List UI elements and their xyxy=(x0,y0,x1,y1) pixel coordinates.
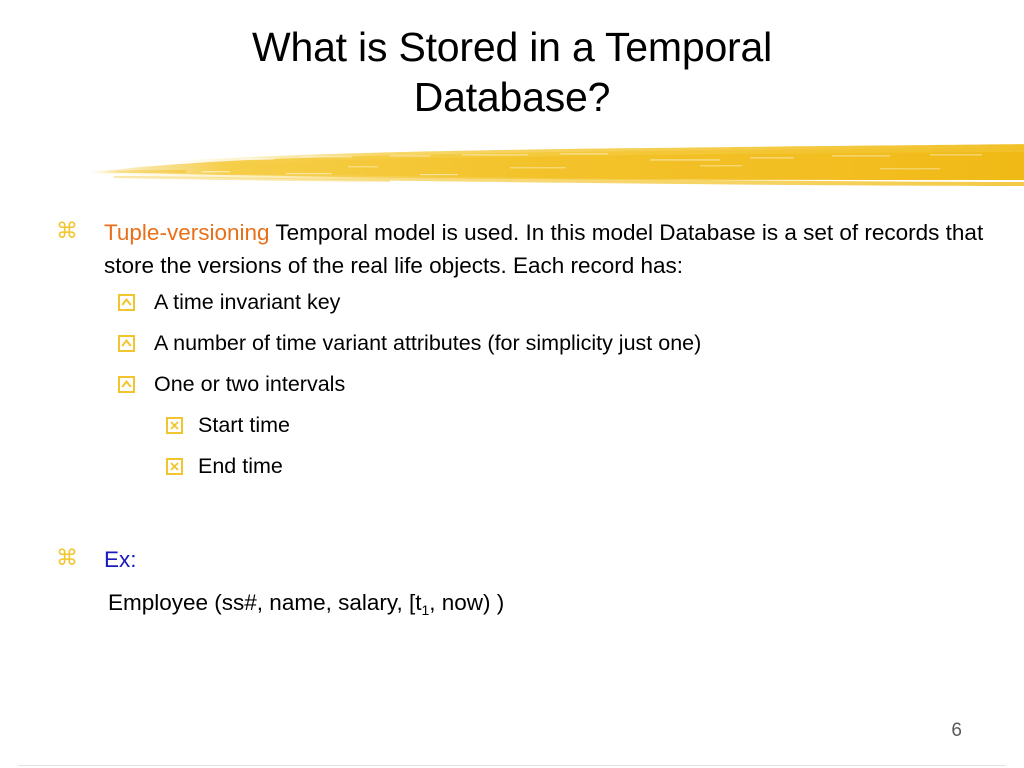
bullet-label: End time xyxy=(198,454,283,478)
title-line-2: Database? xyxy=(112,72,912,122)
bullet-tuple-versioning: ⌘ Tuple-versioning Temporal model is use… xyxy=(52,216,992,282)
chevron-square-bullet-icon xyxy=(118,376,135,393)
bullet-example: ⌘ Ex: xyxy=(52,543,992,576)
bullet-label: One or two intervals xyxy=(154,372,345,396)
command-bullet-icon: ⌘ xyxy=(56,219,78,245)
page-title: What is Stored in a Temporal Database? xyxy=(112,22,912,122)
bullet-text: Tuple-versioning Temporal model is used.… xyxy=(104,220,983,278)
bullet-start-time: Start time xyxy=(162,405,992,446)
example-prefix: Employee (ss#, name, salary, [t xyxy=(108,590,421,615)
bullet-label: A time invariant key xyxy=(154,290,340,314)
bullet-label: Start time xyxy=(198,413,290,437)
bullet-time-variant-attributes: A number of time variant attributes (for… xyxy=(114,323,992,364)
bullet-end-time: End time xyxy=(162,446,992,487)
chevron-square-bullet-icon xyxy=(118,294,135,311)
page-number: 6 xyxy=(951,720,962,742)
bullet-one-or-two-intervals: One or two intervals xyxy=(114,364,992,405)
slide: What is Stored in a Temporal Database? xyxy=(0,0,1024,768)
brush-stroke-divider xyxy=(90,140,1024,198)
bullet-time-invariant-key: A time invariant key xyxy=(114,282,992,323)
keyword-ex: Ex: xyxy=(104,547,137,572)
example-suffix: , now) ) xyxy=(429,590,504,615)
example-schema-line: Employee (ss#, name, salary, [t1, now) ) xyxy=(108,586,992,622)
slide-body: ⌘ Tuple-versioning Temporal model is use… xyxy=(52,216,992,622)
chevron-square-bullet-icon xyxy=(118,335,135,352)
bullet-label: A number of time variant attributes (for… xyxy=(154,331,701,355)
command-bullet-icon: ⌘ xyxy=(56,546,78,572)
bottom-divider xyxy=(18,765,1006,766)
example-subscript: 1 xyxy=(421,602,429,618)
x-square-bullet-icon xyxy=(166,458,183,475)
blank-line-spacer xyxy=(52,487,992,543)
x-square-bullet-icon xyxy=(166,417,183,434)
title-line-1: What is Stored in a Temporal xyxy=(112,22,912,72)
keyword-tuple-versioning: Tuple-versioning xyxy=(104,220,270,245)
